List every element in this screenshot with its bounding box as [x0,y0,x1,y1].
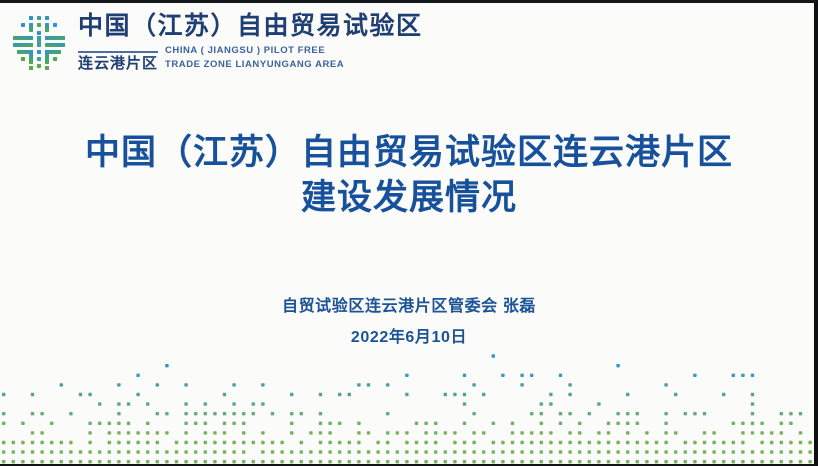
subtitle-date: 2022年6月10日 [0,322,818,353]
logo-divider-rule [78,51,158,53]
jiangsu-ftz-cross-logo-icon [8,12,70,74]
organization-logo-lockup: 中国（江苏）自由贸易试验区 连云港片区 CHINA ( JIANGSU ) PI… [8,12,423,74]
presentation-slide: 中国（江苏）自由贸易试验区 连云港片区 CHINA ( JIANGSU ) PI… [0,0,818,466]
slide-title: 中国（江苏）自由贸易试验区连云港片区 建设发展情况 [0,131,818,221]
subtitle-presenter: 自贸试验区连云港片区管委会 张磊 [0,291,818,322]
logo-chinese-main: 中国（江苏）自由贸易试验区 [78,14,423,39]
logo-chinese-sub-wrap: 连云港片区 [78,51,158,72]
slide-subtitle: 自贸试验区连云港片区管委会 张磊 2022年6月10日 [0,291,818,353]
title-line-2: 建设发展情况 [0,176,818,221]
logo-english-line-2: TRADE ZONE LIANYUNGANG AREA [165,58,344,71]
logo-text-block: 中国（江苏）自由贸易试验区 连云港片区 CHINA ( JIANGSU ) PI… [78,14,423,72]
logo-english-line-1: CHINA ( JIANGSU ) PILOT FREE [165,44,344,57]
dot-matrix-decoration [0,344,818,464]
logo-chinese-sub: 连云港片区 [78,56,158,72]
logo-english-block: CHINA ( JIANGSU ) PILOT FREE TRADE ZONE … [165,44,344,72]
logo-secondary-row: 连云港片区 CHINA ( JIANGSU ) PILOT FREE TRADE… [78,44,423,72]
title-line-1: 中国（江苏）自由贸易试验区连云港片区 [0,131,818,176]
